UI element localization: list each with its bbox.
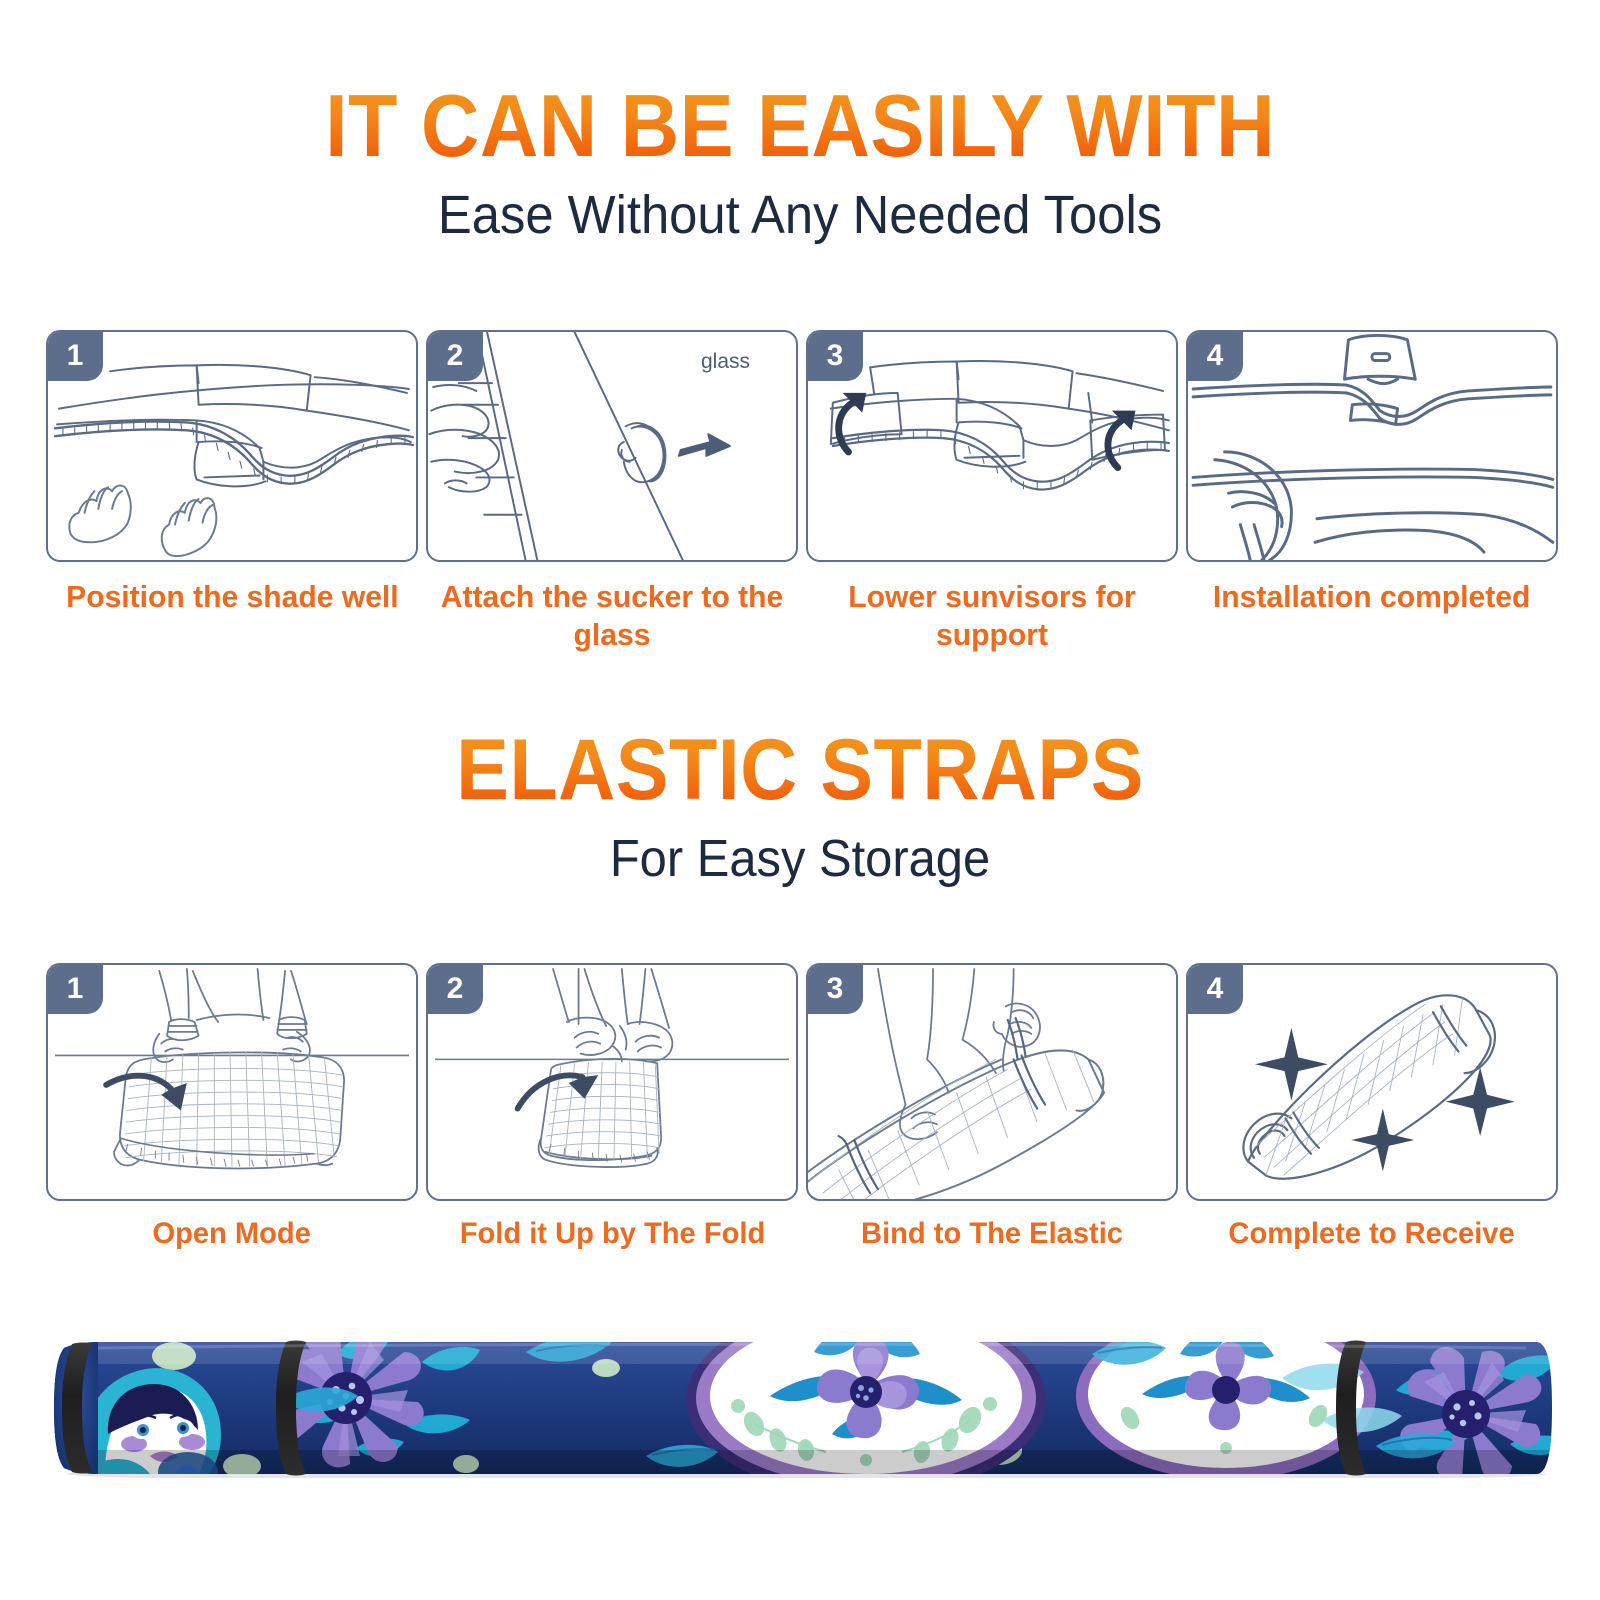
storage-step-3: 3 Bind to The Elastic (802, 963, 1182, 1253)
install-step-3-caption: Lower sunvisors for support (812, 578, 1173, 654)
install-title: IT CAN BE EASILY WITH (64, 78, 1536, 174)
install-step-1-badge: 1 (47, 331, 103, 381)
storage-step-3-caption: Bind to The Elastic (861, 1215, 1123, 1253)
storage-step-3-badge: 3 (807, 964, 863, 1014)
direction-arrow-icon (679, 434, 730, 456)
install-step-4: 4 Installation completed (1182, 330, 1562, 654)
straps-title: ELASTIC STRAPS (64, 723, 1536, 817)
storage-step-2-caption: Fold it Up by The Fold (459, 1215, 765, 1253)
install-step-3: 3 Lower sunvisors for support (802, 330, 1182, 654)
lower-sunvisors-illustration (808, 332, 1176, 560)
bind-elastic-illustration (808, 965, 1176, 1199)
install-step-4-caption: Installation completed (1213, 578, 1530, 616)
storage-step-4-panel: 4 (1186, 963, 1558, 1201)
install-step-1-panel: 1 (46, 330, 418, 562)
install-step-2-badge: 2 (427, 331, 483, 381)
storage-step-2-badge: 2 (427, 964, 483, 1014)
install-subtitle: Ease Without Any Needed Tools (48, 180, 1552, 250)
install-step-3-badge: 3 (807, 331, 863, 381)
straps-subtitle: For Easy Storage (48, 825, 1552, 893)
straps-section-heading: ELASTIC STRAPS For Easy Storage (0, 723, 1600, 893)
install-step-4-panel: 4 (1186, 330, 1558, 562)
storage-steps-row: 1 Open Mode (42, 963, 1562, 1253)
storage-step-1-badge: 1 (47, 964, 103, 1014)
fold-up-illustration (428, 965, 796, 1199)
storage-step-1: 1 Open Mode (42, 963, 422, 1253)
storage-step-4: 4 Complete to Receive (1182, 963, 1562, 1253)
infographic-page: IT CAN BE EASILY WITH Ease Without Any N… (0, 0, 1600, 1600)
storage-step-1-panel: 1 (46, 963, 418, 1201)
install-steps-row: 1 Position the shade well (42, 330, 1562, 654)
install-step-3-panel: 3 (806, 330, 1178, 562)
storage-step-3-panel: 3 (806, 963, 1178, 1201)
install-step-1: 1 Position the shade well (42, 330, 422, 654)
storage-step-1-caption: Open Mode (153, 1215, 311, 1253)
install-step-2: glass 2 Attach the sucker to the glass (422, 330, 802, 654)
open-mode-illustration (48, 965, 416, 1199)
storage-step-2: 2 Fold it Up by The Fold (422, 963, 802, 1253)
installation-completed-illustration (1188, 332, 1556, 560)
storage-step-2-panel: 2 (426, 963, 798, 1201)
rolled-sunshade-graphic (46, 1338, 1554, 1478)
storage-step-4-badge: 4 (1187, 964, 1243, 1014)
complete-rolled-shade-illustration (1188, 965, 1556, 1199)
glass-annotation-label: glass (701, 350, 750, 374)
dashboard-shade-positioning-illustration (48, 332, 416, 560)
storage-step-4-caption: Complete to Receive (1229, 1215, 1515, 1253)
install-step-2-caption: Attach the sucker to the glass (432, 578, 793, 654)
install-step-2-panel: glass 2 (426, 330, 798, 562)
product-roll-photo (46, 1338, 1554, 1478)
install-step-1-caption: Position the shade well (66, 578, 399, 616)
install-step-4-badge: 4 (1187, 331, 1243, 381)
install-section-heading: IT CAN BE EASILY WITH Ease Without Any N… (0, 78, 1600, 250)
